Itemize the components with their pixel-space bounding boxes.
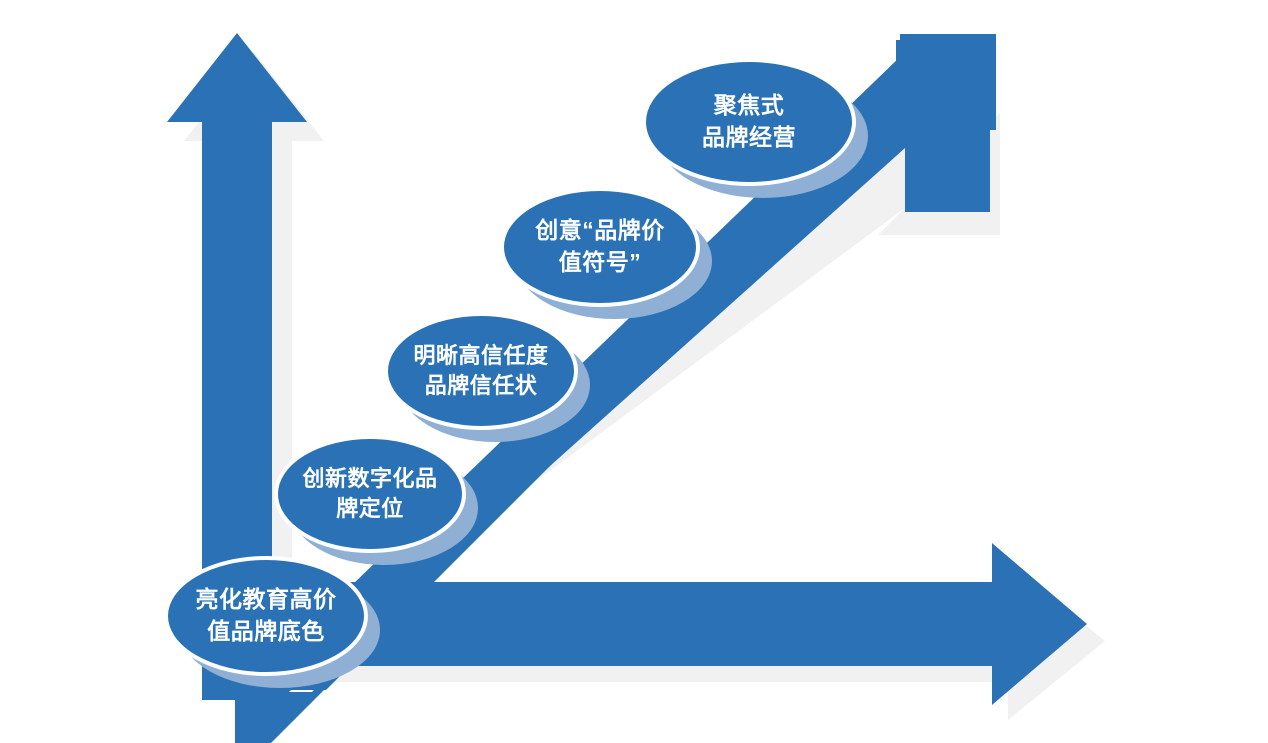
stage-label-4: 创意“品牌价 值符号” [502,189,698,305]
stage-label-5: 聚焦式 品牌经营 [644,60,854,184]
diagram-canvas: 亮化教育高价 值品牌底色 创新数字化品 牌定位 明晰高信任度 品牌信任状 创意“… [0,0,1268,743]
stage-label-2: 创新数字化品 牌定位 [276,437,464,551]
stage-label-1: 亮化教育高价 值品牌底色 [166,558,366,674]
stage-label-3: 明晰高信任度 品牌信任状 [386,314,576,428]
